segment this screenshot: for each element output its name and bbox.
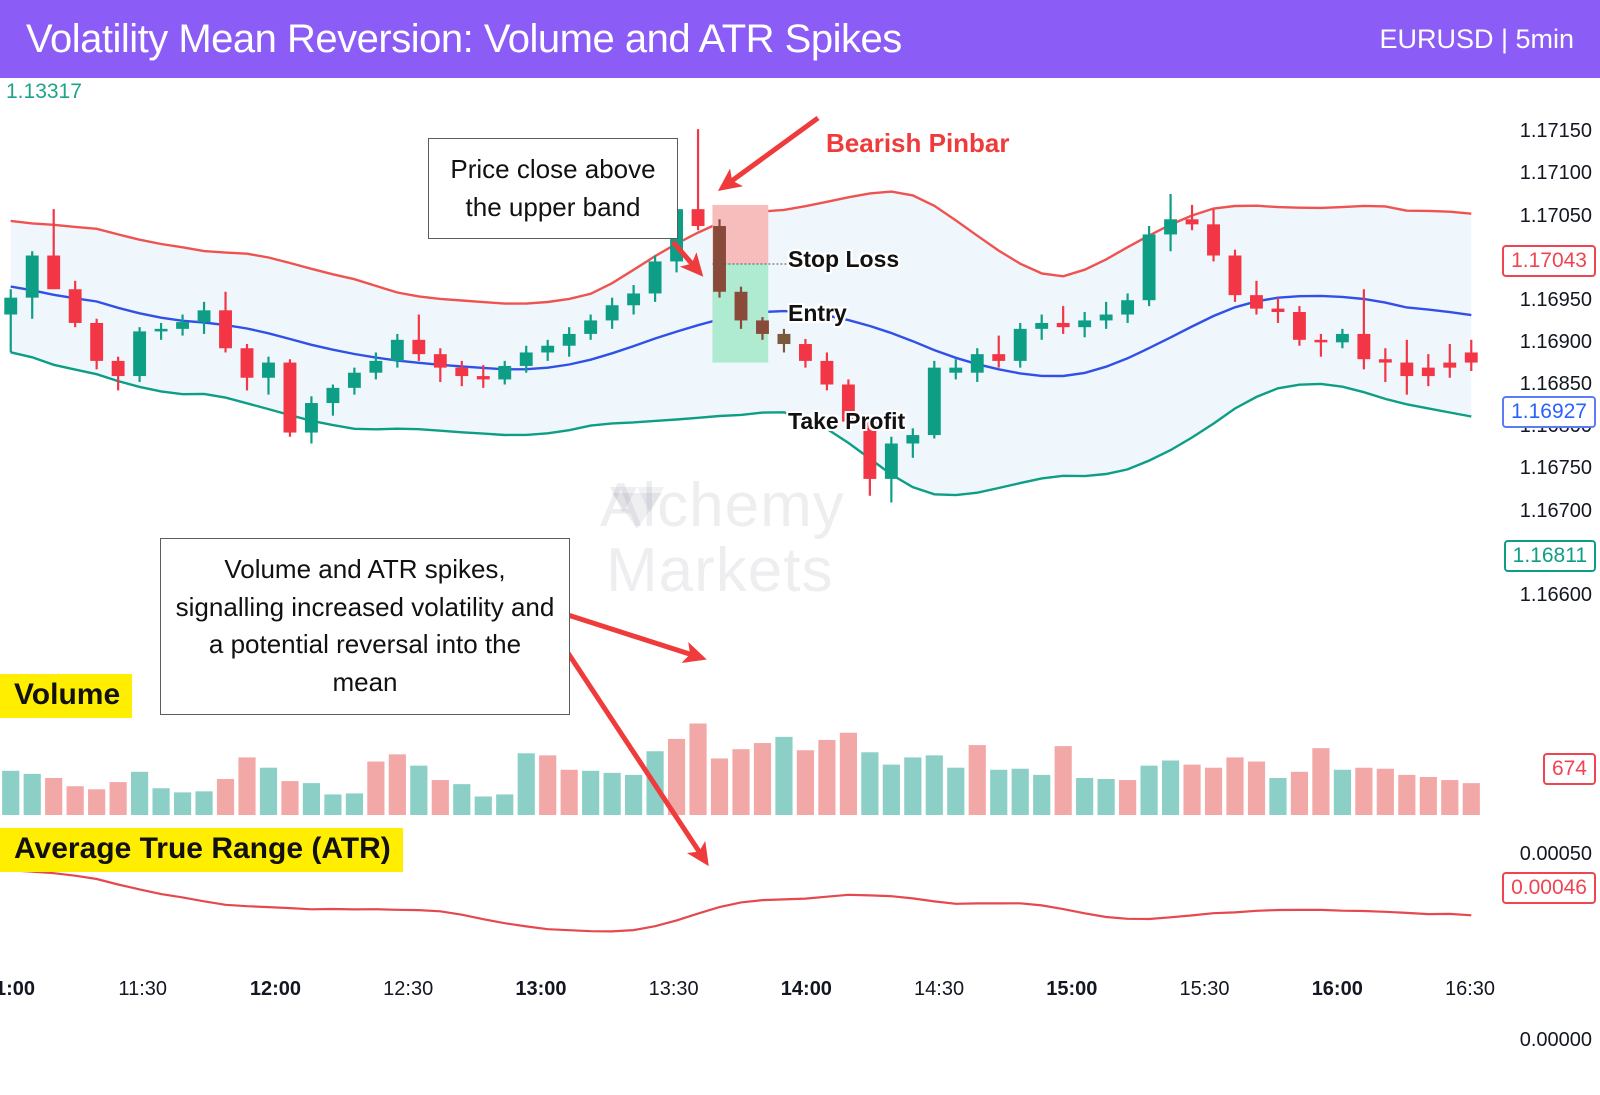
candle-body <box>563 334 576 346</box>
volume-bar <box>1312 748 1329 815</box>
volume-bar <box>217 779 234 815</box>
volume-bar <box>1291 772 1308 815</box>
candle-body <box>1186 219 1199 224</box>
candle-body <box>155 329 168 332</box>
candle-body <box>348 373 361 388</box>
candle-body <box>627 293 640 305</box>
candle-body <box>133 331 146 376</box>
candle-body <box>412 340 425 354</box>
candle-body <box>369 361 382 373</box>
volume-bar <box>195 791 212 815</box>
candle-body <box>391 340 404 361</box>
volume-bar <box>24 774 41 815</box>
volume-bar <box>818 740 835 815</box>
candle-body <box>778 334 791 344</box>
candle-body <box>219 310 232 348</box>
volume-bar <box>45 778 62 815</box>
label-take-profit: Take Profit <box>788 408 905 435</box>
candle-body <box>477 376 490 379</box>
volume-bar <box>67 786 84 815</box>
candle-body <box>4 298 17 315</box>
candle-body <box>47 256 60 290</box>
volume-bar <box>1420 777 1437 815</box>
price-axis-tick: 1.16900 <box>1520 331 1592 354</box>
candle-body <box>1207 224 1220 255</box>
symbol-timeframe-label: EURUSD | 5min <box>1379 24 1574 55</box>
candle-body <box>928 368 941 435</box>
time-axis-tick: 11:30 <box>118 978 167 1001</box>
candle-body <box>992 354 1005 361</box>
volume-bar <box>926 755 943 815</box>
volume-bar <box>732 749 749 815</box>
volume-bar <box>110 782 127 815</box>
volume-bar <box>475 796 492 815</box>
candle-body <box>541 346 554 353</box>
volume-bar <box>324 794 341 815</box>
volume-bar <box>754 743 771 815</box>
candle-body <box>326 388 339 403</box>
page-title: Volatility Mean Reversion: Volume and AT… <box>26 17 902 62</box>
candle-body <box>1057 323 1070 327</box>
candle-body <box>1229 256 1242 296</box>
candle-body <box>1422 368 1435 376</box>
atr-axis-tick: 0.00000 <box>1520 1029 1592 1052</box>
upper-band-price-badge: 1.17043 <box>1502 245 1596 277</box>
volume-bar <box>1463 783 1480 815</box>
label-bearish-pinbar: Bearish Pinbar <box>826 128 1010 159</box>
volume-bar <box>1119 780 1136 815</box>
volume-bar <box>1441 780 1458 815</box>
volume-bar <box>861 752 878 815</box>
candle-body <box>1293 312 1306 340</box>
candle-body <box>1078 320 1091 327</box>
candle-body <box>520 352 533 365</box>
atr-line-series <box>11 870 1472 931</box>
pane-label-volume: Volume <box>0 674 132 718</box>
price-axis-tick: 1.17150 <box>1520 120 1592 143</box>
volume-bar <box>668 739 685 815</box>
volume-bar <box>1012 769 1029 815</box>
candle-body <box>971 354 984 373</box>
time-axis-tick: 11:00 <box>0 978 35 1001</box>
volume-bar <box>539 755 556 815</box>
candle-body <box>1379 359 1392 362</box>
volume-bar <box>260 768 277 815</box>
volume-value-badge: 674 <box>1543 753 1596 785</box>
volume-bar <box>1076 778 1093 815</box>
time-axis-tick: 12:30 <box>383 978 433 1001</box>
volume-bar <box>561 770 578 815</box>
atr-axis-tick: 0.00050 <box>1520 843 1592 866</box>
candle-body <box>1443 363 1456 368</box>
volume-bar <box>88 789 105 815</box>
volume-bar <box>496 794 513 815</box>
volume-bar <box>1355 768 1372 815</box>
candle-body <box>949 368 962 373</box>
atr-value-badge: 0.00046 <box>1502 872 1596 904</box>
price-axis-tick: 1.16750 <box>1520 457 1592 480</box>
time-axis-tick: 15:00 <box>1046 978 1097 1001</box>
candle-body <box>584 320 597 333</box>
candle-body <box>1014 329 1027 361</box>
candle-body <box>69 289 82 323</box>
candle-body <box>713 226 726 292</box>
volume-bar <box>883 765 900 815</box>
volume-bar <box>346 793 363 815</box>
volume-bar <box>174 792 191 815</box>
volume-bar <box>1269 778 1286 815</box>
volume-bar <box>990 770 1007 815</box>
candle-body <box>455 368 468 376</box>
time-axis-tick: 14:00 <box>781 978 832 1001</box>
volume-bar <box>604 773 621 815</box>
volume-bar <box>1055 746 1072 815</box>
candle-body <box>112 361 125 376</box>
candle-body <box>1121 300 1134 314</box>
volume-bar <box>969 745 986 815</box>
volume-bar <box>582 771 599 815</box>
candle-body <box>305 403 318 433</box>
time-axis-tick: 13:00 <box>515 978 566 1001</box>
candle-body <box>606 305 619 320</box>
candle-body <box>434 354 447 367</box>
candle-body <box>498 366 511 379</box>
volume-bar <box>904 757 921 815</box>
volume-bar <box>797 750 814 815</box>
candle-body <box>1250 295 1263 308</box>
last-price-badge: 1.16927 <box>1502 396 1596 428</box>
volume-bar <box>1334 770 1351 815</box>
volume-bar <box>2 771 19 815</box>
volume-bar <box>1098 779 1115 815</box>
candle-body <box>799 344 812 361</box>
candle-body <box>885 444 898 479</box>
time-axis-tick: 16:00 <box>1312 978 1363 1001</box>
volume-bar <box>1140 766 1157 815</box>
candle-body <box>1100 315 1113 321</box>
volume-bar <box>238 757 255 815</box>
candle-body <box>90 323 103 361</box>
candle-body <box>1035 323 1048 329</box>
volume-bar <box>1183 765 1200 815</box>
price-axis-tick: 1.17050 <box>1520 205 1592 228</box>
volume-bar <box>432 780 449 815</box>
volume-bar <box>1248 762 1265 815</box>
chart-header: Volatility Mean Reversion: Volume and AT… <box>0 0 1600 78</box>
volume-bar <box>775 737 792 815</box>
price-axis-tick: 1.17100 <box>1520 162 1592 185</box>
candle-body <box>1272 309 1285 312</box>
volume-bar <box>367 762 384 815</box>
price-axis-tick: 1.16950 <box>1520 289 1592 312</box>
volume-bar <box>1033 775 1050 815</box>
candle-body <box>906 435 919 443</box>
candle-body <box>756 320 769 333</box>
candle-body <box>1143 234 1156 300</box>
candle-body <box>1336 334 1349 342</box>
callout-volume-atr-spikes: Volume and ATR spikes, signalling increa… <box>160 538 570 715</box>
volume-bar <box>1162 761 1179 815</box>
time-axis: 11:0011:3012:0012:3013:0013:3014:0014:30… <box>0 978 1600 1018</box>
volume-bar <box>1226 757 1243 815</box>
time-axis-tick: 15:30 <box>1180 978 1230 1001</box>
volume-bar <box>1377 769 1394 815</box>
pane-label-atr: Average True Range (ATR) <box>0 828 403 872</box>
candle-body <box>198 310 211 322</box>
candle-body <box>1357 334 1370 359</box>
volume-bar <box>131 772 148 815</box>
volume-bar <box>281 781 298 815</box>
volume-bar <box>625 775 642 815</box>
candle-body <box>735 292 748 321</box>
arrow-atr-spike <box>568 653 706 862</box>
volume-bar <box>518 753 535 815</box>
candle-body <box>26 256 39 298</box>
candle-body <box>176 322 189 329</box>
volume-bar <box>389 754 406 815</box>
candle-body <box>1465 352 1478 362</box>
volume-bar <box>947 768 964 815</box>
price-axis-tick: 1.16600 <box>1520 584 1592 607</box>
volume-bar <box>453 784 470 815</box>
time-axis-tick: 16:30 <box>1445 978 1495 1001</box>
volume-bar <box>689 723 706 815</box>
candle-body <box>262 363 275 378</box>
arrow-bearish-pinbar <box>722 118 818 188</box>
volume-bar <box>840 733 857 815</box>
volume-bar <box>711 758 728 815</box>
candle-body <box>649 261 662 293</box>
volume-bar <box>1205 768 1222 815</box>
label-stop-loss: Stop Loss <box>788 246 899 273</box>
candle-body <box>1164 219 1177 234</box>
volume-bar <box>410 766 427 815</box>
volume-bar-series[interactable] <box>2 723 1480 815</box>
label-entry: Entry <box>788 300 847 327</box>
lower-band-price-badge: 1.16811 <box>1504 540 1596 572</box>
arrow-volume-spike <box>568 615 702 658</box>
volume-bar <box>152 788 169 815</box>
candle-body <box>820 361 833 385</box>
candle-body <box>692 209 705 226</box>
time-axis-tick: 14:30 <box>914 978 964 1001</box>
price-axis-tick: 1.16700 <box>1520 500 1592 523</box>
candle-body <box>1400 363 1413 376</box>
candle-body <box>1314 340 1327 343</box>
price-axis-tick: 1.16850 <box>1520 373 1592 396</box>
time-axis-tick: 13:30 <box>649 978 699 1001</box>
time-axis-tick: 12:00 <box>250 978 301 1001</box>
callout-price-close-above-band: Price close above the upper band <box>428 138 678 239</box>
volume-bar <box>303 783 320 815</box>
volume-bar <box>1398 775 1415 815</box>
candle-body <box>284 363 297 433</box>
candle-body <box>241 348 254 378</box>
